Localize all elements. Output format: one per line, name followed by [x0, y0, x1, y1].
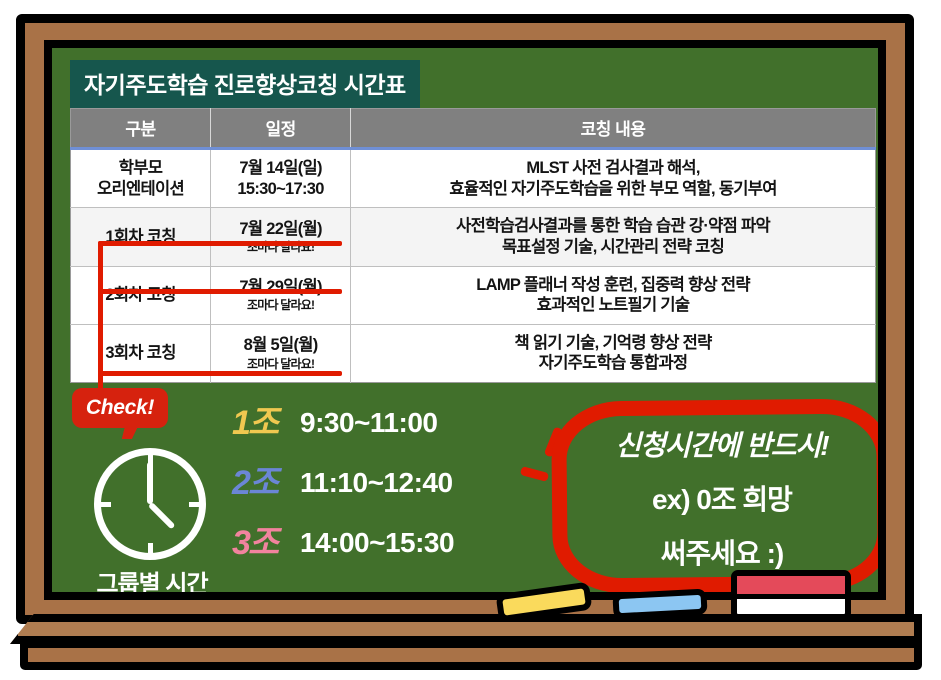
- eraser-icon: [731, 570, 851, 620]
- content-line1: LAMP 플래너 작성 훈련, 집중력 향상 전략: [355, 275, 871, 296]
- content-line2: 효과적인 노트필기 기술: [355, 295, 871, 316]
- table-row: 학부모 오리엔테이션 7월 14일(일) 15:30~17:30 MLST 사전…: [71, 149, 876, 208]
- group-tag: 1조: [232, 406, 296, 440]
- content-line2: 효율적인 자기주도학습을 위한 부모 역할, 동기부여: [355, 179, 871, 200]
- cell-content: 사전학습검사결과를 통한 학습 습관 강·약점 파악 목표설정 기술, 시간관리…: [351, 208, 876, 266]
- col-header-category: 구분: [71, 109, 211, 149]
- content-line1: 사전학습검사결과를 통한 학습 습관 강·약점 파악: [355, 216, 871, 237]
- date-line1: 7월 29일(월): [215, 277, 346, 298]
- date-line1: 8월 5일(월): [215, 335, 346, 356]
- note-line3: 써주세요 :): [661, 532, 783, 572]
- date-note: 조마다 달라요!: [215, 357, 346, 372]
- category-line2: 오리엔테이션: [75, 179, 206, 200]
- eraser-top-stripe: [737, 576, 845, 599]
- clock-tick-6: [148, 543, 153, 555]
- cell-content: 책 읽기 기술, 기억령 향상 전략 자기주도학습 통합과정: [351, 324, 876, 382]
- note-text: 신청시간에 반드시! ex) 0조 희망 써주세요 :): [557, 410, 878, 586]
- annotation-line-top: [98, 241, 342, 246]
- content-line1: 책 읽기 기술, 기억령 향상 전략: [355, 333, 871, 354]
- group-time: 14:00~15:30: [296, 527, 454, 559]
- list-item: 1조 9:30~11:00: [232, 393, 532, 453]
- list-item: 2조 11:10~12:40: [232, 453, 532, 513]
- chalkboard-surface: 자기주도학습 진로향상코칭 시간표 구분 일정 코칭 내용: [52, 48, 878, 592]
- content-line1: MLST 사전 검사결과 해석,: [355, 158, 871, 179]
- category-line1: 학부모: [75, 158, 206, 179]
- clock-label: 그룹별 시간: [72, 564, 232, 592]
- clock-minute-hand: [147, 462, 153, 504]
- category-line1: 2회차 코칭: [75, 285, 206, 306]
- date-line1: 7월 14일(일): [215, 158, 346, 179]
- list-item: 3조 14:00~15:30: [232, 513, 532, 573]
- annotation-line-mid: [98, 289, 342, 294]
- group-tag: 3조: [232, 526, 296, 560]
- group-tag: 2조: [232, 466, 296, 500]
- note-line2: ex) 0조 희망: [652, 478, 792, 518]
- group-time: 9:30~11:00: [296, 407, 437, 439]
- cell-date: 7월 22일(월) 조마다 달라요!: [211, 208, 351, 266]
- date-line1: 7월 22일(월): [215, 219, 346, 240]
- cell-content: LAMP 플래너 작성 훈련, 집중력 향상 전략 효과적인 노트필기 기술: [351, 266, 876, 324]
- check-badge: Check!: [72, 388, 168, 428]
- cell-date: 7월 14일(일) 15:30~17:30: [211, 149, 351, 208]
- col-header-content: 코칭 내용: [351, 109, 876, 149]
- cell-category: 학부모 오리엔테이션: [71, 149, 211, 208]
- cell-content: MLST 사전 검사결과 해석, 효율적인 자기주도학습을 위한 부모 역할, …: [351, 149, 876, 208]
- poster-canvas: 자기주도학습 진로향상코칭 시간표 구분 일정 코칭 내용: [0, 0, 941, 680]
- clock-icon: [94, 448, 206, 560]
- cell-category: 2회차 코칭: [71, 266, 211, 324]
- col-header-date: 일정: [211, 109, 351, 149]
- table-row: 2회차 코칭 7월 29일(월) 조마다 달라요! LAMP 플래너 작성 훈련…: [71, 266, 876, 324]
- annotation-line-bottom: [98, 371, 342, 376]
- note-line1: 신청시간에 반드시!: [615, 424, 828, 464]
- category-line1: 3회차 코칭: [75, 343, 206, 364]
- table-header-row: 구분 일정 코칭 내용: [71, 109, 876, 149]
- page-title: 자기주도학습 진로향상코칭 시간표: [70, 60, 420, 108]
- blue-chalk-icon: [612, 589, 707, 620]
- group-time-list: 1조 9:30~11:00 2조 11:10~12:40 3조 14:00~15…: [232, 393, 532, 573]
- clock-tick-9: [99, 502, 111, 507]
- clock-tick-3: [189, 502, 201, 507]
- cell-category: 1회차 코칭: [71, 208, 211, 266]
- cell-date: 7월 29일(월) 조마다 달라요!: [211, 266, 351, 324]
- date-note: 조마다 달라요!: [215, 298, 346, 313]
- table-row: 1회차 코칭 7월 22일(월) 조마다 달라요! 사전학습검사결과를 통한 학…: [71, 208, 876, 266]
- content-line2: 목표설정 기술, 시간관리 전략 코칭: [355, 237, 871, 258]
- group-time: 11:10~12:40: [296, 467, 453, 499]
- content-line2: 자기주도학습 통합과정: [355, 353, 871, 374]
- chalkboard-inner-border: 자기주도학습 진로향상코칭 시간표 구분 일정 코칭 내용: [44, 40, 886, 600]
- chalk-ledge-bottom: [20, 640, 922, 670]
- date-line2: 15:30~17:30: [215, 179, 346, 200]
